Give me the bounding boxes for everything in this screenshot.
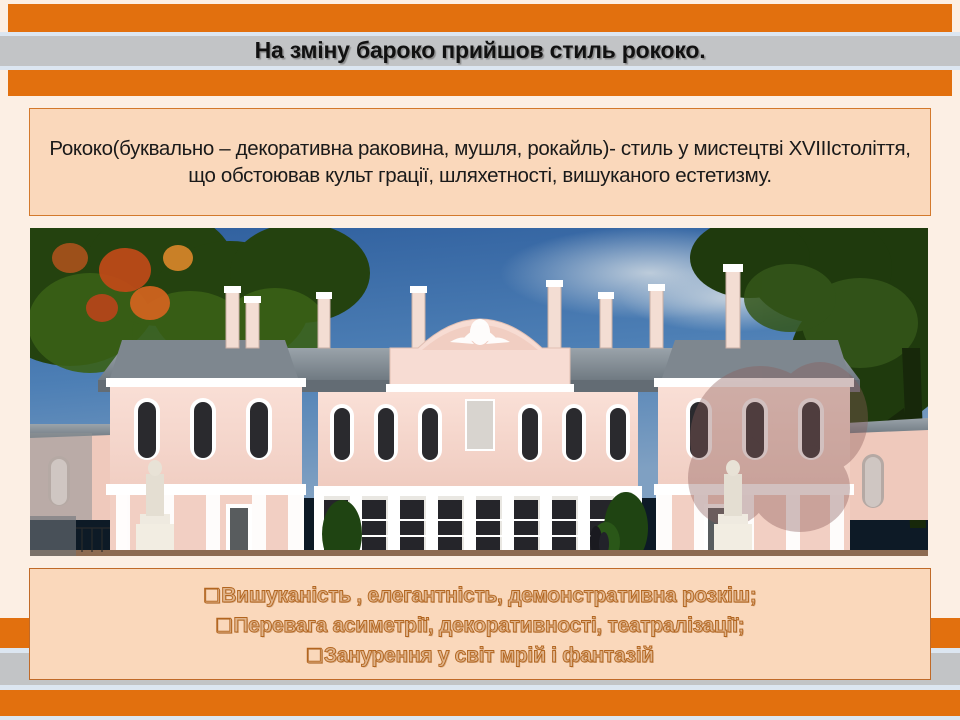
palace-photo-illustration [30,228,928,556]
list-item: ❑Занурення у світ мрій і фантазій [306,641,654,671]
square-bullet-icon: ❑ [216,616,233,637]
list-item-label: Перевага асиметрії, декоративності, теат… [233,614,744,637]
list-item: ❑Перевага асиметрії, декоративності, теа… [216,611,745,641]
list-item-label: Вишуканість , елегантність, демонстратив… [221,584,756,607]
square-bullet-icon: ❑ [204,586,221,607]
footer-orange-band-bottom [0,690,960,716]
list-item-label: Занурення у світ мрій і фантазій [324,644,654,667]
definition-textbox: Рококо(буквально – декоративна раковина,… [29,108,931,216]
slide-title: На зміну бароко прийшов стиль рококо. [0,33,960,67]
list-item: ❑Вишуканість , елегантність, демонстрати… [204,581,757,611]
definition-text: Рококо(буквально – декоративна раковина,… [48,135,912,189]
footer-divider-bottom [0,716,960,720]
palace-photo [30,228,928,556]
header-orange-band-bottom [8,70,952,96]
header-orange-band-top [8,4,952,32]
features-textbox: ❑Вишуканість , елегантність, демонстрати… [29,568,931,680]
square-bullet-icon: ❑ [306,646,323,667]
